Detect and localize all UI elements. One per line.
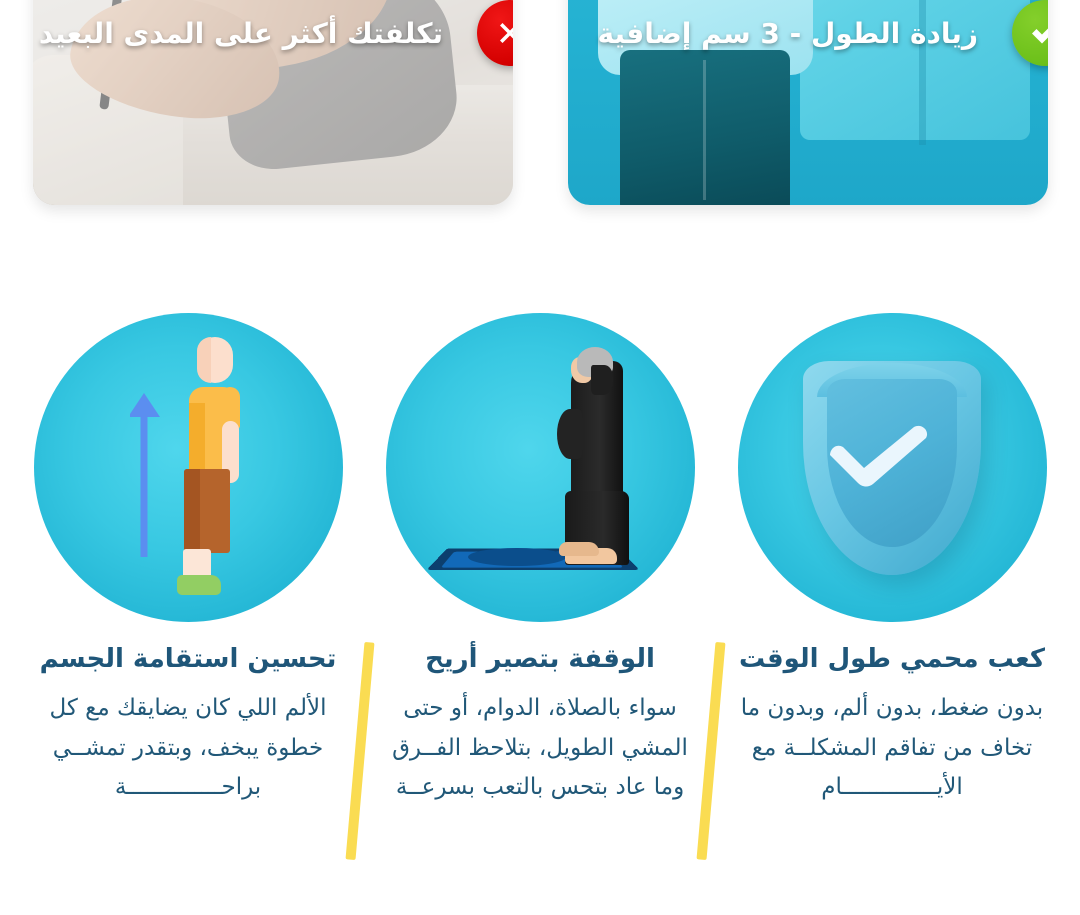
posture-pants-shade-shape xyxy=(184,469,200,553)
feature-posture-body: الألم اللي كان يضايقك مع كل خطوة يبخف، و… xyxy=(23,689,353,808)
robe-belly-shape xyxy=(557,409,583,459)
posture-shoe-shape xyxy=(177,575,221,595)
comparison-card-negative[interactable]: تكلفتك أكثر على المدى البعيد xyxy=(33,0,513,205)
prayer-mat-oval-shape xyxy=(468,548,566,566)
posture-shirt-shade-shape xyxy=(189,403,205,473)
feature-prayer-title: الوقفة بتصير أريح xyxy=(425,644,655,675)
feature-prayer: الوقفة بتصير أريح سواء بالصلاة، الدوام، … xyxy=(385,313,695,873)
beard-shape xyxy=(591,365,613,395)
up-arrow-icon xyxy=(130,381,164,557)
feature-posture: تحسين استقامة الجسم الألم اللي كان يضايق… xyxy=(33,313,343,873)
shield-checkmark-shape xyxy=(826,425,934,487)
standing-posture-arrow-icon xyxy=(34,313,343,622)
jeans-seam-shape xyxy=(703,60,706,200)
feature-shield-title: كعب محمي طول الوقت xyxy=(739,644,1045,675)
positive-card-label: زيادة الطول - 3 سم إضافية xyxy=(584,16,978,51)
comparison-cards-row: تكلفتك أكثر على المدى البعيد زيادة الطول… xyxy=(0,0,1080,205)
feature-posture-title: تحسين استقامة الجسم xyxy=(40,644,337,675)
foot-back-shape xyxy=(559,542,599,556)
feature-shield-body: بدون ضغط، بدون ألم، وبدون ما تخاف من تفا… xyxy=(727,689,1057,808)
comparison-card-positive[interactable]: زيادة الطول - 3 سم إضافية xyxy=(568,0,1048,205)
shield-check-icon xyxy=(738,313,1047,622)
feature-shield: كعب محمي طول الوقت بدون ضغط، بدون ألم، و… xyxy=(737,313,1047,873)
features-row: كعب محمي طول الوقت بدون ضغط، بدون ألم، و… xyxy=(0,313,1080,873)
feature-prayer-body: سواء بالصلاة، الدوام، أو حتى المشي الطوي… xyxy=(375,689,705,808)
praying-person-icon xyxy=(386,313,695,622)
promo-page: تكلفتك أكثر على المدى البعيد زيادة الطول… xyxy=(0,0,1080,915)
posture-head-shade-shape xyxy=(197,337,211,383)
negative-card-label: تكلفتك أكثر على المدى البعيد xyxy=(49,16,443,51)
